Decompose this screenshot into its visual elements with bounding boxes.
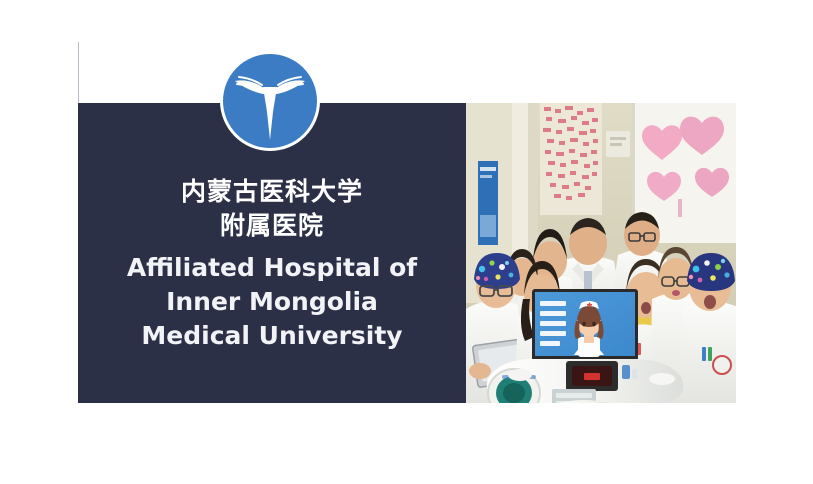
vertical-rule (78, 42, 79, 104)
hospital-name-en-line3: Medical University (127, 319, 417, 353)
hospital-name-cn-line2: 附属医院 (220, 209, 324, 242)
hospital-name-en-line1: Affiliated Hospital of (127, 251, 417, 285)
hospital-bird-emblem-icon (223, 54, 317, 148)
hospital-logo (220, 51, 320, 151)
hospital-name-cn-line1: 内蒙古医科大学 (181, 175, 363, 208)
slide-canvas: 内蒙古医科大学 附属医院 Affiliated Hospital of Inne… (0, 0, 813, 484)
hospital-photo (466, 103, 736, 403)
hospital-name-en: Affiliated Hospital of Inner Mongolia Me… (127, 251, 417, 352)
hospital-name-en-line2: Inner Mongolia (127, 285, 417, 319)
